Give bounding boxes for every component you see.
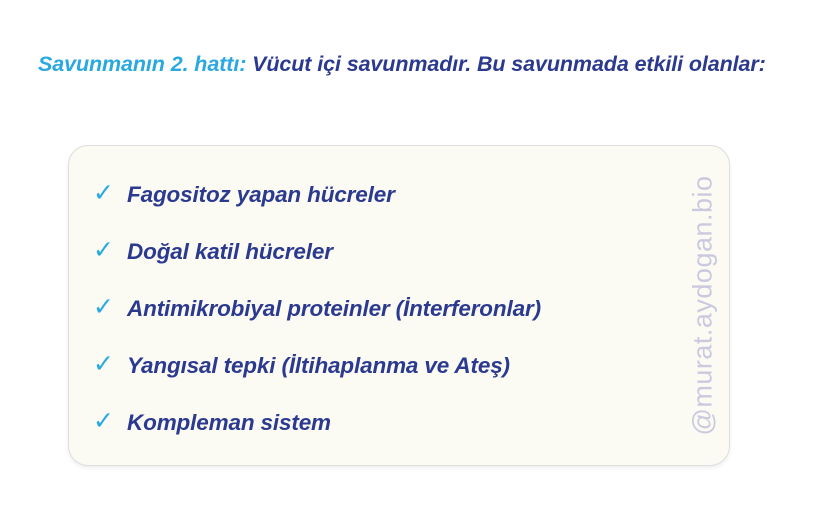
checklist-card: ✓ Fagositoz yapan hücreler ✓ Doğal katil… [68, 145, 730, 466]
page-title: Savunmanın 2. hattı: Vücut içi savunmadı… [38, 49, 798, 80]
list-item: ✓ Antimikrobiyal proteinler (İnterferonl… [93, 287, 719, 331]
list-item: ✓ Kompleman sistem [93, 401, 719, 445]
list-item-label: Kompleman sistem [127, 410, 331, 436]
check-icon: ✓ [93, 238, 127, 263]
slide-root: Savunmanın 2. hattı: Vücut içi savunmadı… [0, 0, 828, 519]
list-item-label: Antimikrobiyal proteinler (İnterferonlar… [127, 296, 541, 322]
heading-rest: Vücut içi savunmadır. Bu savunmada etkil… [246, 52, 765, 76]
check-icon: ✓ [93, 409, 127, 434]
list-item: ✓ Doğal katil hücreler [93, 230, 719, 274]
list-item: ✓ Fagositoz yapan hücreler [93, 173, 719, 217]
check-icon: ✓ [93, 352, 127, 377]
check-icon: ✓ [93, 181, 127, 206]
check-icon: ✓ [93, 295, 127, 320]
list-item-label: Yangısal tepki (İltihaplanma ve Ateş) [127, 353, 510, 379]
list-item-label: Fagositoz yapan hücreler [127, 182, 395, 208]
list-item: ✓ Yangısal tepki (İltihaplanma ve Ateş) [93, 344, 719, 388]
heading-lead: Savunmanın 2. hattı: [38, 52, 246, 76]
list-item-label: Doğal katil hücreler [127, 239, 333, 265]
checklist: ✓ Fagositoz yapan hücreler ✓ Doğal katil… [93, 166, 719, 451]
